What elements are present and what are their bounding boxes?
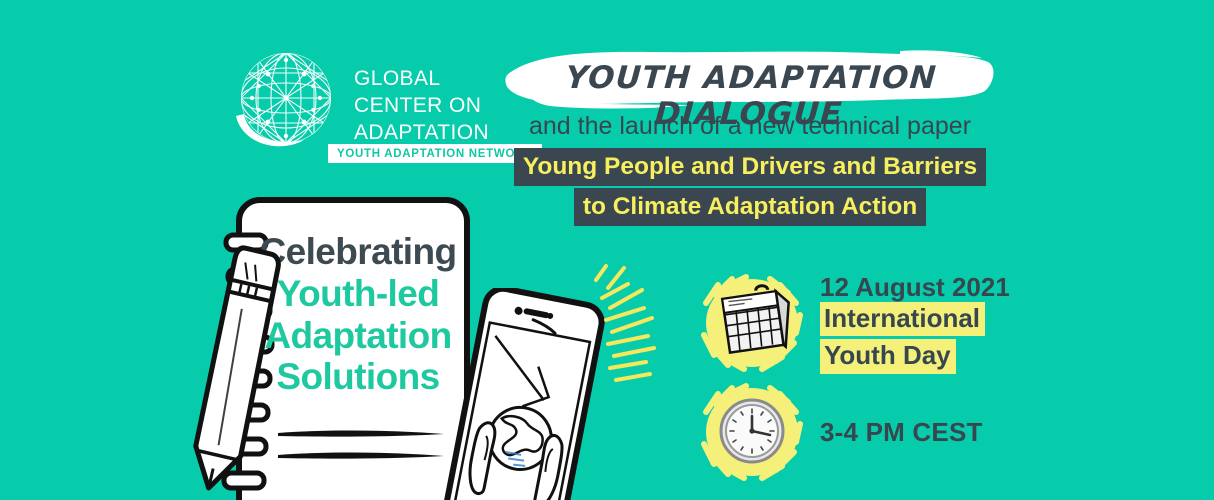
- paper-title-line2: to Climate Adaptation Action: [574, 188, 926, 226]
- calendar-blob: [700, 273, 804, 373]
- event-subtitle: and the launch of a new technical paper: [500, 112, 1000, 141]
- event-date-line3: Youth Day: [820, 339, 956, 373]
- sparkle-rays-icon: [580, 262, 670, 387]
- event-date-line2: International: [820, 302, 985, 336]
- event-time-row: 3-4 PM CEST: [700, 382, 983, 482]
- promo-banner: GLOBAL CENTER ON ADAPTATION YOUTH ADAPTA…: [0, 0, 1214, 500]
- clock-icon: [700, 382, 804, 482]
- event-date-row: 12 August 2021 International Youth Day: [700, 272, 1010, 374]
- pencil-icon: [176, 238, 286, 500]
- event-time-value: 3-4 PM CEST: [820, 417, 983, 448]
- headline-group: YOUTH ADAPTATION DIALOGUE and the launch…: [500, 48, 1000, 110]
- brush-banner: YOUTH ADAPTATION DIALOGUE: [500, 48, 1000, 110]
- gca-logo: GLOBAL CENTER ON ADAPTATION YOUTH ADAPTA…: [228, 48, 478, 166]
- event-date-text: 12 August 2021 International Youth Day: [820, 272, 1010, 374]
- event-time-text: 3-4 PM CEST: [820, 417, 983, 448]
- clock-blob: [700, 382, 804, 482]
- logo-organization-name: GLOBAL CENTER ON ADAPTATION: [354, 66, 489, 147]
- geodesic-globe-icon: [228, 48, 340, 160]
- paper-title: Young People and Drivers and Barriers to…: [500, 148, 1000, 226]
- calendar-icon: [700, 273, 804, 373]
- notebook-rule-lines: [276, 425, 446, 465]
- paper-title-line1: Young People and Drivers and Barriers: [514, 148, 986, 186]
- event-date-line1: 12 August 2021: [820, 272, 1010, 302]
